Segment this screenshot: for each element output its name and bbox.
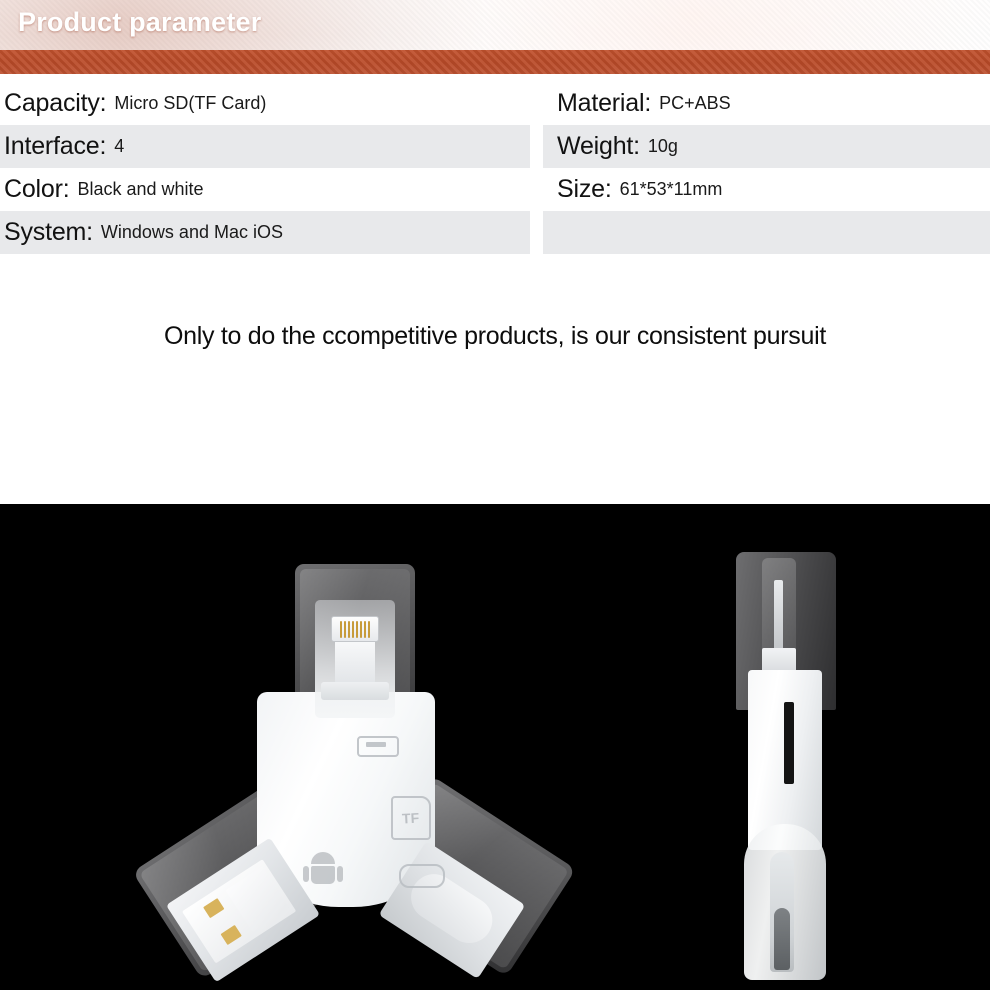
spec-column-left: Capacity: Micro SD(TF Card) Interface: 4… [0, 82, 530, 254]
connector-pin [364, 621, 366, 638]
tagline-text: Only to do the ccompetitive products, is… [164, 322, 826, 351]
specification-table: Capacity: Micro SD(TF Card) Interface: 4… [0, 82, 990, 272]
android-body [311, 866, 335, 884]
lightning-connector-icon [331, 616, 379, 642]
spec-value: Windows and Mac iOS [101, 222, 283, 243]
connector-pin [356, 621, 358, 638]
spec-value: Black and white [78, 179, 204, 200]
usb-c-port-icon [399, 864, 445, 888]
spec-column-right: Material: PC+ABS Weight: 10g Size: 61*53… [543, 82, 990, 254]
spec-label: Capacity: [4, 89, 106, 118]
spec-value: 61*53*11mm [620, 179, 723, 200]
spec-label: Color: [4, 175, 70, 204]
tf-card-slot [784, 702, 794, 784]
spec-row: Capacity: Micro SD(TF Card) [0, 82, 530, 125]
tf-card-icon-label: TF [402, 810, 420, 827]
spec-row: System: Windows and Mac iOS [0, 211, 530, 254]
spec-row: Color: Black and white [0, 168, 530, 211]
tf-card-icon: TF [391, 796, 431, 840]
spec-row: Interface: 4 [0, 125, 530, 168]
spec-label: Material: [557, 89, 651, 118]
spec-label: Size: [557, 175, 612, 204]
side-view-tail-tip [774, 908, 790, 970]
page-header-banner: Product parameter [0, 0, 990, 74]
spec-row: Size: 61*53*11mm [543, 168, 990, 211]
product-image-side-view [718, 552, 868, 982]
android-arm-left [303, 866, 309, 882]
micro-usb-port-icon [357, 736, 399, 757]
side-view-connector-pin [774, 580, 783, 652]
product-photo-panel: TF TF Card [0, 504, 990, 990]
spec-row-empty [543, 211, 990, 254]
spec-value: PC+ABS [659, 93, 731, 114]
connector-pin [368, 621, 370, 638]
spec-label: Weight: [557, 132, 640, 161]
connector-pin [340, 621, 342, 638]
android-arm-right [337, 866, 343, 882]
android-head [311, 852, 335, 864]
spec-value: 10g [648, 136, 678, 157]
spec-label: System: [4, 218, 93, 247]
spec-row: Material: PC+ABS [543, 82, 990, 125]
connector-pin [360, 621, 362, 638]
connector-pin [352, 621, 354, 638]
usb-a-contact-pad [203, 898, 224, 918]
spec-value: 4 [114, 136, 124, 157]
tagline-container: Only to do the ccompetitive products, is… [0, 322, 990, 351]
android-robot-icon [303, 852, 343, 886]
product-image-four-in-one-reader: TF [145, 564, 545, 984]
page-title: Product parameter [18, 7, 261, 38]
spec-row: Weight: 10g [543, 125, 990, 168]
banner-orange-band [0, 50, 990, 74]
spec-label: Interface: [4, 132, 106, 161]
spec-value: Micro SD(TF Card) [114, 93, 266, 114]
connector-pin [348, 621, 350, 638]
connector-pin [344, 621, 346, 638]
usb-a-contact-pad [221, 925, 242, 945]
lightning-connector-neck [335, 642, 375, 684]
lightning-connector-base [321, 682, 389, 700]
banner-orange-texture [0, 50, 990, 74]
